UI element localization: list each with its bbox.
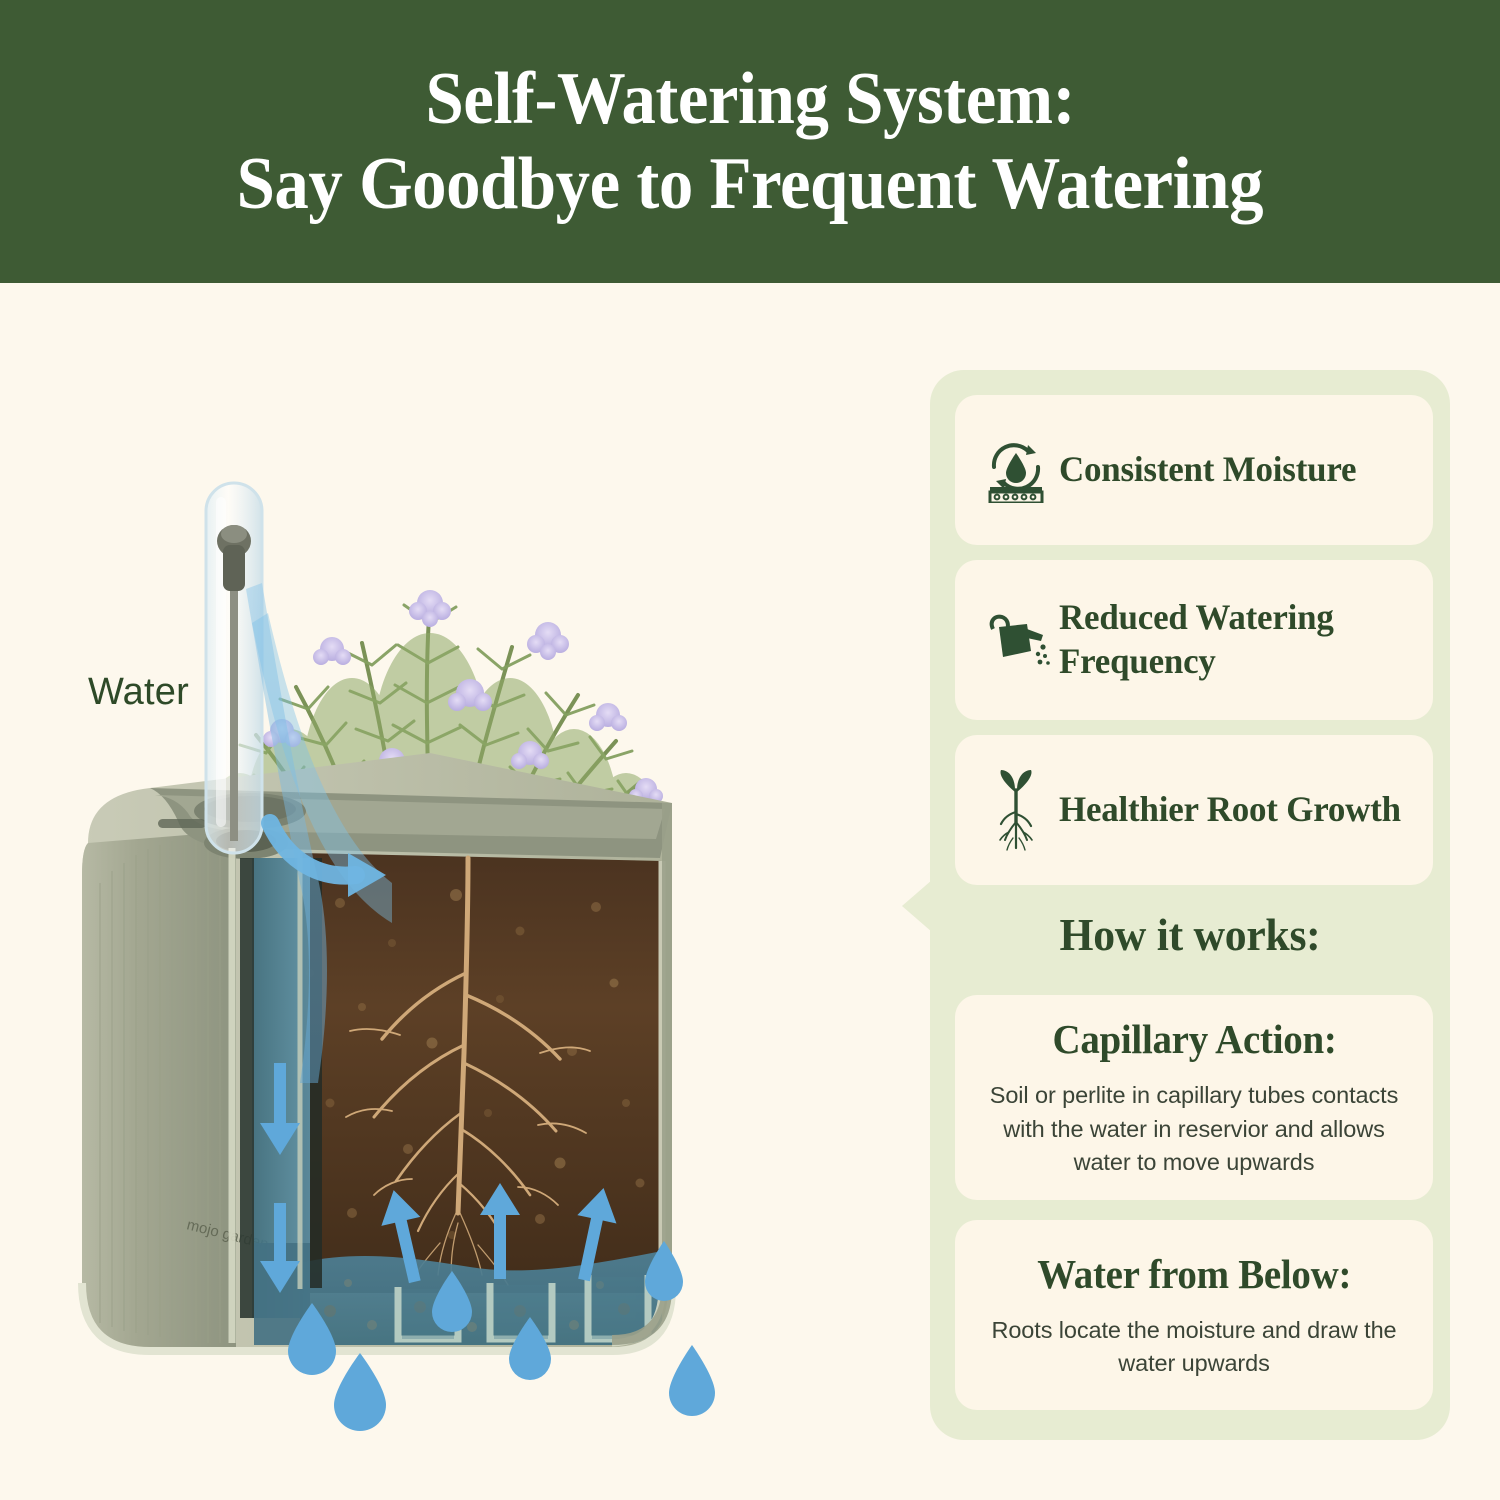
step-body: Soil or perlite in capillary tubes conta… bbox=[989, 1079, 1399, 1179]
step-title: Water from Below: bbox=[1037, 1250, 1351, 1298]
overflow-slot bbox=[158, 819, 206, 828]
benefit-label: Reduced Watering Frequency bbox=[1059, 596, 1334, 684]
header-title-line-1: Self-Watering System: bbox=[425, 57, 1075, 141]
water-level-indicator bbox=[206, 483, 262, 853]
benefit-card-healthier-root-growth[interactable]: Healthier Root Growth bbox=[955, 735, 1433, 885]
benefit-label: Consistent Moisture bbox=[1059, 448, 1356, 492]
header-banner: Self-Watering System: Say Goodbye to Fre… bbox=[0, 0, 1500, 283]
moisture-cycle-icon bbox=[973, 437, 1059, 503]
benefit-card-reduced-watering-frequency[interactable]: Reduced Watering Frequency bbox=[955, 560, 1433, 720]
step-title: Capillary Action: bbox=[1052, 1015, 1336, 1063]
benefit-label: Healthier Root Growth bbox=[1059, 788, 1401, 832]
planter-illustration: Water bbox=[0, 283, 900, 1500]
header-title-line-2: Say Goodbye to Frequent Watering bbox=[237, 142, 1263, 226]
infographic-page: Self-Watering System: Say Goodbye to Fre… bbox=[0, 0, 1500, 1500]
how-it-works-title: How it works: bbox=[943, 908, 1437, 961]
step-card-capillary-action[interactable]: Capillary Action: Soil or perlite in cap… bbox=[955, 995, 1433, 1200]
panel-pointer-tail bbox=[902, 880, 932, 932]
watering-can-icon bbox=[973, 611, 1059, 669]
step-body: Roots locate the moisture and draw the w… bbox=[989, 1314, 1399, 1381]
seedling-roots-icon bbox=[973, 768, 1059, 852]
benefit-card-consistent-moisture[interactable]: Consistent Moisture bbox=[955, 395, 1433, 545]
planter-cutaway-diagram: mojo garden bbox=[0, 283, 900, 1500]
step-card-water-from-below[interactable]: Water from Below: Roots locate the moist… bbox=[955, 1220, 1433, 1410]
